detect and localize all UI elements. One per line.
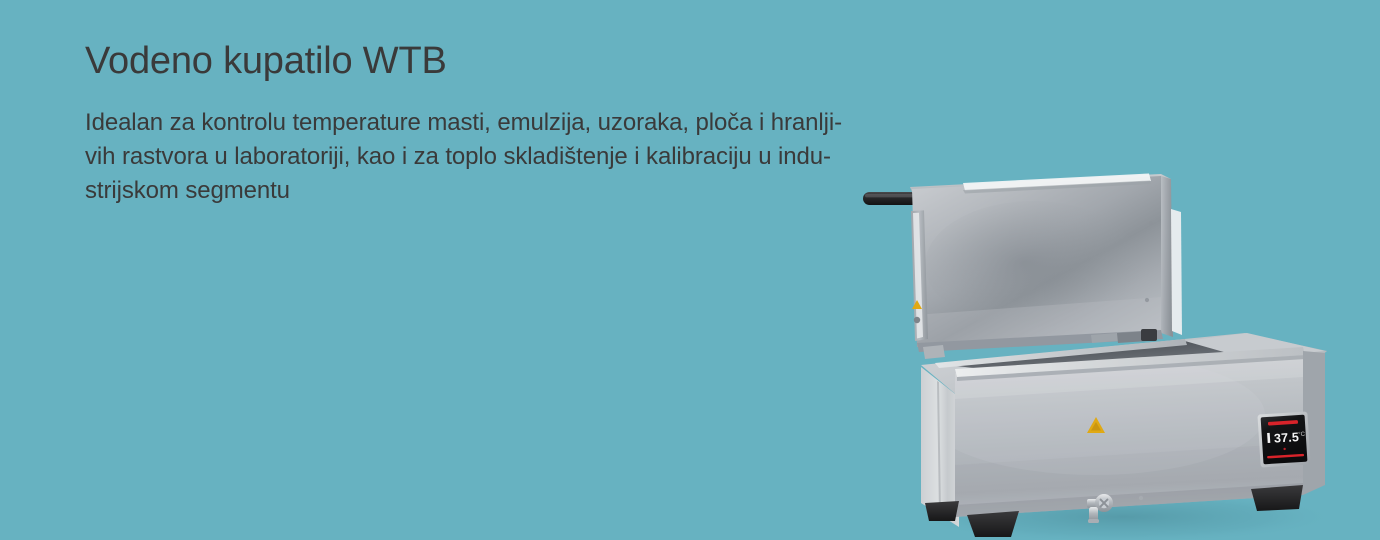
- product-image-water-bath: 37.5 °C: [855, 165, 1355, 540]
- display-value: 37.5: [1274, 430, 1300, 446]
- lid-right-panel: [1161, 176, 1173, 337]
- foot-front-left: [967, 511, 1019, 537]
- display-unit: °C: [1298, 432, 1306, 438]
- body-screw: [1139, 496, 1143, 500]
- description-line-1: Idealan za kontrolu temperature masti, e…: [85, 106, 1015, 140]
- temperature-display[interactable]: 37.5 °C: [1257, 411, 1310, 467]
- foot-rear-left: [925, 501, 959, 521]
- hero-text-block: Vodeno kupatilo WTB Idealan za kontrolu …: [85, 38, 1015, 208]
- lid-screw-lower: [1145, 298, 1149, 302]
- hero-description: Idealan za kontrolu temperature masti, e…: [85, 84, 1015, 208]
- lid-screw-upper: [1149, 221, 1153, 225]
- lid-port: [914, 317, 920, 323]
- drain-spout: [1089, 507, 1098, 521]
- water-bath-illustration: 37.5 °C: [855, 165, 1355, 540]
- description-line-3: strijskom segmentu: [85, 174, 1015, 208]
- lid-right-edge-strip: [1171, 209, 1182, 335]
- description-line-2: vih rastvora u laboratoriji, kao i za to…: [85, 140, 1015, 174]
- hero-banner: Vodeno kupatilo WTB Idealan za kontrolu …: [0, 0, 1380, 540]
- page-title: Vodeno kupatilo WTB: [85, 38, 1015, 84]
- foot-front-right: [1251, 485, 1303, 511]
